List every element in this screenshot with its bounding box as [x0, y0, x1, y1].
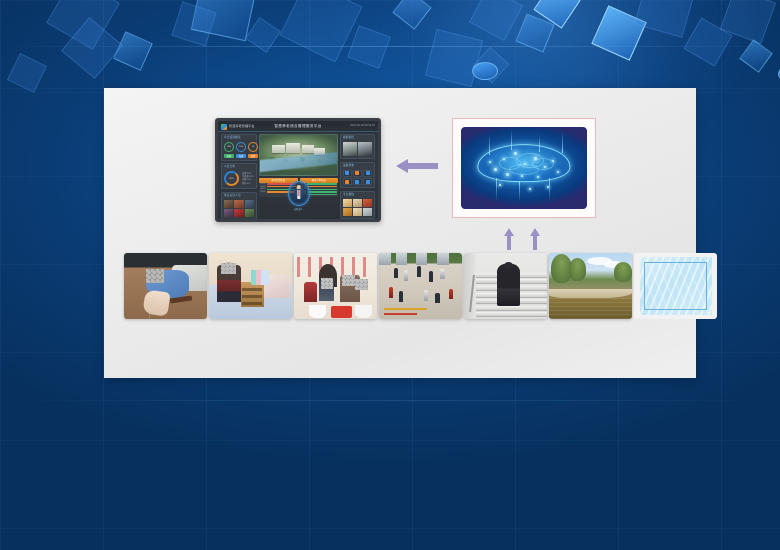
background-ellipse-1	[472, 62, 498, 80]
avatar-caption: 在院老人	[294, 207, 303, 211]
meal-card: 今日餐饮	[340, 191, 375, 219]
dashboard-logo: 智慧养老管理平台	[221, 124, 255, 130]
walking-person	[417, 266, 421, 277]
flow-arrow-left	[396, 158, 438, 174]
campus-tree	[283, 159, 288, 163]
ai-brain-illustration	[461, 127, 587, 209]
cctv-feed[interactable]	[343, 142, 357, 156]
bottles	[251, 270, 269, 285]
meal-thumb[interactable]	[363, 199, 372, 207]
inner-rectangle-outline	[644, 262, 707, 311]
resident-thumb[interactable]	[234, 200, 243, 208]
background-line-3	[0, 400, 780, 401]
person-legs	[142, 290, 170, 317]
meal-label: 今日餐饮	[343, 194, 372, 197]
campus-building	[272, 145, 284, 153]
device-glyph-icon	[366, 171, 370, 175]
gauge-chip-devices: 在线	[236, 154, 246, 158]
photo-fall-detection[interactable]	[124, 253, 207, 319]
device-icon-infrared[interactable]	[363, 170, 372, 177]
climbing-person	[497, 264, 520, 306]
dresser	[241, 282, 264, 307]
gauge-ring-residents: 286	[224, 142, 234, 152]
background-building	[416, 253, 428, 265]
resident-thumb[interactable]	[224, 209, 233, 217]
donut-chart[interactable]: 92%	[224, 171, 239, 186]
gauge-ring-alarms: 12	[248, 142, 258, 152]
background-building	[437, 253, 449, 265]
walking-person	[399, 291, 403, 302]
brain-data-stream	[539, 135, 540, 151]
residents-label: 重点关注人员	[224, 195, 254, 198]
walking-person	[449, 289, 453, 300]
device-glyph-icon	[366, 180, 370, 184]
gauge-chip-alarms: 告警	[248, 154, 258, 158]
device-icon-grid	[343, 170, 372, 186]
privacy-mosaic	[221, 263, 235, 274]
focus-resident-avatar[interactable]: 在院老人	[287, 181, 311, 211]
resident-thumb[interactable]	[245, 200, 254, 208]
ai-brain-frame[interactable]	[452, 118, 596, 218]
device-icon-mattress[interactable]	[353, 170, 362, 177]
dashboard-center-column: 实时告警信息 09:28 09:15 08:57 08:31 服务工单记录 09…	[259, 134, 338, 217]
campus-tree	[326, 154, 331, 158]
brain-node	[529, 188, 531, 190]
camera-label: 视频监控	[343, 137, 372, 140]
device-glyph-icon	[355, 180, 359, 184]
legend-item: 失能 10%	[242, 179, 254, 181]
dashboard-logo-text: 智慧养老管理平台	[229, 125, 255, 128]
gauge-ring-devices: 154	[236, 142, 246, 152]
worksheet-status-bar	[307, 191, 336, 192]
device-glyph-icon	[355, 171, 359, 175]
content-panel: 智慧养老管理平台 智慧养老综合管理服务平台 2021-06-18 09:32:1…	[104, 88, 696, 378]
brain-data-stream	[519, 181, 520, 202]
person-left	[304, 282, 317, 302]
worksheet-status-bar	[307, 189, 336, 190]
gauge-item[interactable]: 154 在线	[236, 142, 246, 158]
avatar-ring	[288, 181, 310, 206]
privacy-mosaic	[146, 269, 164, 284]
resident-thumb-grid	[224, 200, 254, 217]
campus-building	[302, 145, 314, 154]
abstract-blue-texture	[640, 257, 712, 315]
gauge-item[interactable]: 12 告警	[248, 142, 258, 158]
avatar-tie	[298, 190, 299, 196]
donut-legend: 自理 62% 半自理 24% 失能 10% 特护 4%	[242, 173, 254, 185]
meal-thumb[interactable]	[353, 199, 362, 207]
brain-data-stream	[496, 178, 497, 201]
photo-courtyard[interactable]	[379, 253, 462, 319]
device-glyph-icon	[345, 180, 349, 184]
brain-data-stream	[549, 178, 550, 203]
dashboard-monitor[interactable]: 智慧养老管理平台 智慧养老综合管理服务平台 2021-06-18 09:32:1…	[215, 118, 381, 222]
legend-item: 自理 62%	[242, 173, 254, 175]
camera-card: 视频监控	[340, 134, 375, 159]
arrow-up-icon	[503, 228, 515, 250]
arrow-up-icon	[529, 228, 541, 250]
legend-item: 特护 4%	[242, 183, 254, 185]
device-icon-access-gate[interactable]	[363, 178, 372, 185]
worksheet-status-bar	[307, 183, 336, 184]
brain-node	[537, 176, 539, 178]
brain-node	[534, 157, 537, 160]
dashboard-title: 智慧养老综合管理服务平台	[274, 124, 321, 129]
dashboard-clock: 2021-06-18 09:32:15	[350, 124, 375, 127]
meal-thumb[interactable]	[363, 208, 372, 216]
walking-person	[394, 268, 398, 279]
alarm-time: 08:31	[261, 191, 266, 193]
photo-lakeside[interactable]	[549, 253, 632, 319]
device-icon-emergency-call[interactable]	[343, 178, 352, 185]
background-building	[396, 253, 408, 265]
photo-activity-room[interactable]	[294, 253, 377, 319]
privacy-mosaic	[342, 275, 354, 286]
walking-person	[435, 293, 439, 304]
campus-tree	[269, 157, 274, 161]
meal-thumb[interactable]	[353, 208, 362, 216]
logo-mark-icon	[221, 124, 227, 130]
overview-card: 今日运营概览 286 在院 154 在线	[221, 134, 257, 161]
cctv-grid	[343, 142, 372, 156]
brain-data-stream	[489, 134, 490, 155]
arrow-left-icon	[396, 158, 438, 174]
willow-tree	[569, 258, 586, 280]
privacy-mosaic	[321, 278, 333, 289]
worksheet-status-bar	[307, 194, 336, 195]
walking-person	[404, 270, 408, 281]
gauge-chip-residents: 在院	[224, 154, 234, 158]
scene-photo-strip	[124, 253, 717, 319]
device-icon-wristband[interactable]	[343, 170, 352, 177]
dashboard-screen: 智慧养老管理平台 智慧养老综合管理服务平台 2021-06-18 09:32:1…	[218, 121, 378, 219]
residents-card: 重点关注人员	[221, 192, 257, 219]
cctv-feed[interactable]	[358, 142, 372, 156]
brain-node	[499, 184, 501, 186]
campus-3d-map[interactable]	[259, 134, 338, 176]
campus-building	[286, 143, 300, 153]
photo-abstract-blue[interactable]	[634, 253, 717, 319]
meal-thumb[interactable]	[343, 208, 352, 216]
barrier-rail	[384, 308, 427, 310]
stair-step	[476, 312, 547, 317]
avatar-figure-icon	[293, 185, 304, 202]
device-label: 设备状态	[343, 165, 372, 168]
walking-person	[429, 271, 433, 282]
gauge-item[interactable]: 286 在院	[224, 142, 234, 158]
brain-data-stream	[511, 130, 512, 150]
resident-thumb[interactable]	[245, 209, 254, 217]
dashboard-body: 今日运营概览 286 在院 154 在线	[218, 132, 378, 219]
walking-person	[440, 269, 444, 280]
flow-arrow-up-1	[503, 228, 515, 250]
meal-thumb-grid	[343, 199, 372, 216]
lake-water	[549, 298, 632, 319]
stair-step	[476, 306, 547, 311]
brain-fold	[509, 164, 539, 175]
legend-item: 半自理 24%	[242, 176, 254, 178]
distribution-card: 人员分布 92% 自理 62% 半自理 24% 失能 10% 特护 4%	[221, 163, 257, 189]
overview-label: 今日运营概览	[224, 137, 254, 140]
device-icon-smoke-detector[interactable]	[353, 178, 362, 185]
willow-tree	[614, 262, 632, 282]
walking-person	[424, 290, 428, 301]
dashboard-left-column: 今日运营概览 286 在院 154 在线	[221, 134, 257, 217]
brain-data-stream	[562, 132, 563, 153]
privacy-mosaic	[355, 279, 367, 290]
photo-bedroom-care[interactable]	[209, 253, 292, 319]
distribution-label: 人员分布	[224, 166, 254, 169]
brain-node	[503, 158, 505, 160]
donut-row: 92% 自理 62% 半自理 24% 失能 10% 特护 4%	[224, 171, 254, 186]
campus-building	[314, 148, 325, 155]
dashboard-right-column: 视频监控 设备状态	[340, 134, 375, 217]
campus-tree	[317, 159, 322, 163]
red-tray	[331, 306, 353, 318]
walking-person	[389, 287, 393, 298]
photo-stairway[interactable]	[464, 253, 547, 319]
background-building	[379, 253, 391, 265]
white-basin	[355, 305, 372, 318]
meal-thumb[interactable]	[343, 199, 352, 207]
brain-node	[494, 168, 497, 171]
resident-thumb[interactable]	[234, 209, 243, 217]
barrier-rail	[384, 313, 417, 315]
slide-canvas: 智慧养老管理平台 智慧养老综合管理服务平台 2021-06-18 09:32:1…	[0, 0, 780, 550]
device-glyph-icon	[345, 171, 349, 175]
resident-thumb[interactable]	[224, 200, 233, 208]
flow-arrow-up-2	[529, 228, 541, 250]
brain-node	[552, 160, 554, 162]
gauge-row: 286 在院 154 在线 12 告警	[224, 142, 254, 158]
device-card: 设备状态	[340, 162, 375, 189]
white-basin	[309, 305, 326, 318]
campus-tree	[300, 157, 305, 161]
